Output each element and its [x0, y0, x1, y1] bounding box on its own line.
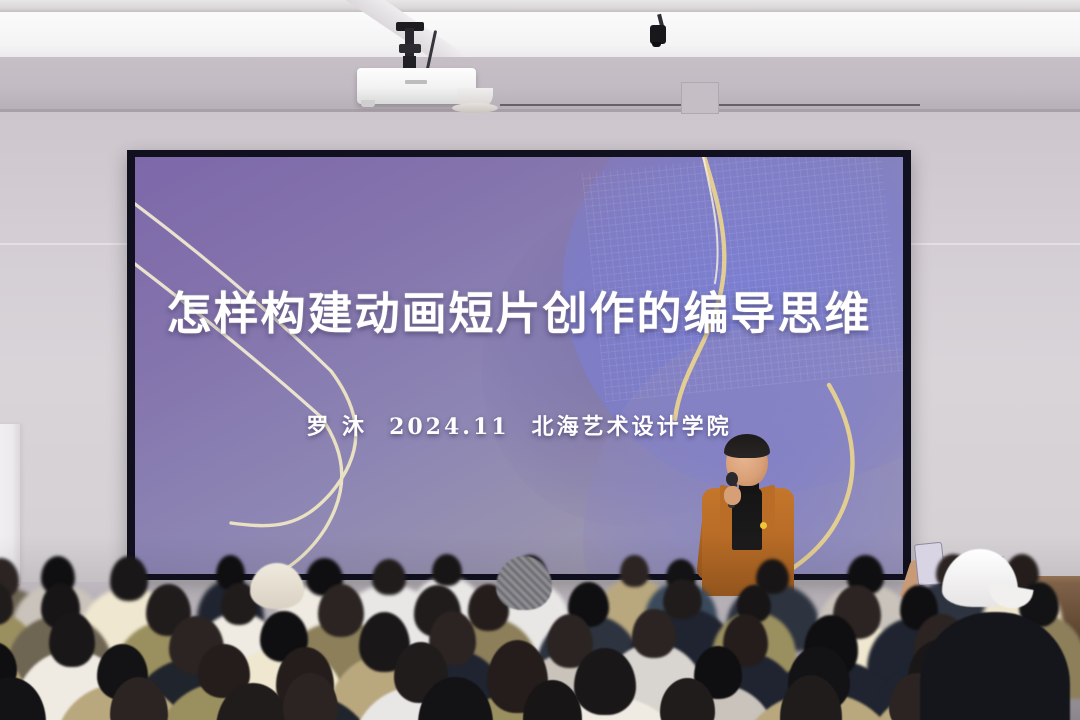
projector-mount-bracket [399, 44, 421, 53]
microphone-head [726, 472, 738, 486]
slide-presenter-name: 罗 沐 [306, 414, 367, 440]
camera-lens [652, 42, 661, 47]
slide-subtitle: 罗 沐2024.11北海艺术设计学院 [135, 409, 903, 441]
slide-title: 怎样构建动画短片创作的编导思维 [135, 289, 903, 339]
audience-member-head [620, 555, 648, 588]
projector-brand-label [405, 80, 427, 84]
speaker-hand [724, 486, 741, 505]
ceiling-beam [0, 12, 1080, 58]
wall-junction-box [681, 82, 719, 114]
ceiling-light-rim [452, 103, 498, 113]
audience-member-head [632, 609, 675, 658]
projector-lens [361, 100, 375, 107]
audience-member-head [574, 648, 636, 715]
audience-member-head [372, 559, 406, 595]
slide-organization: 北海艺术设计学院 [532, 414, 732, 440]
speaker-badge [760, 522, 767, 529]
audience-knit-beanie [496, 556, 552, 610]
lecture-hall-photo: 怎样构建动画短片创作的编导思维 罗 沐2024.11北海艺术设计学院 [0, 0, 1080, 720]
slide-text-block: 怎样构建动画短片创作的编导思维 罗 沐2024.11北海艺术设计学院 [135, 289, 903, 441]
audience-member-head [663, 579, 702, 619]
audience-member-head [110, 556, 148, 601]
slide-date: 2024.11 [389, 414, 510, 440]
audience-member-head [318, 584, 364, 637]
audience-member-head [432, 554, 462, 585]
